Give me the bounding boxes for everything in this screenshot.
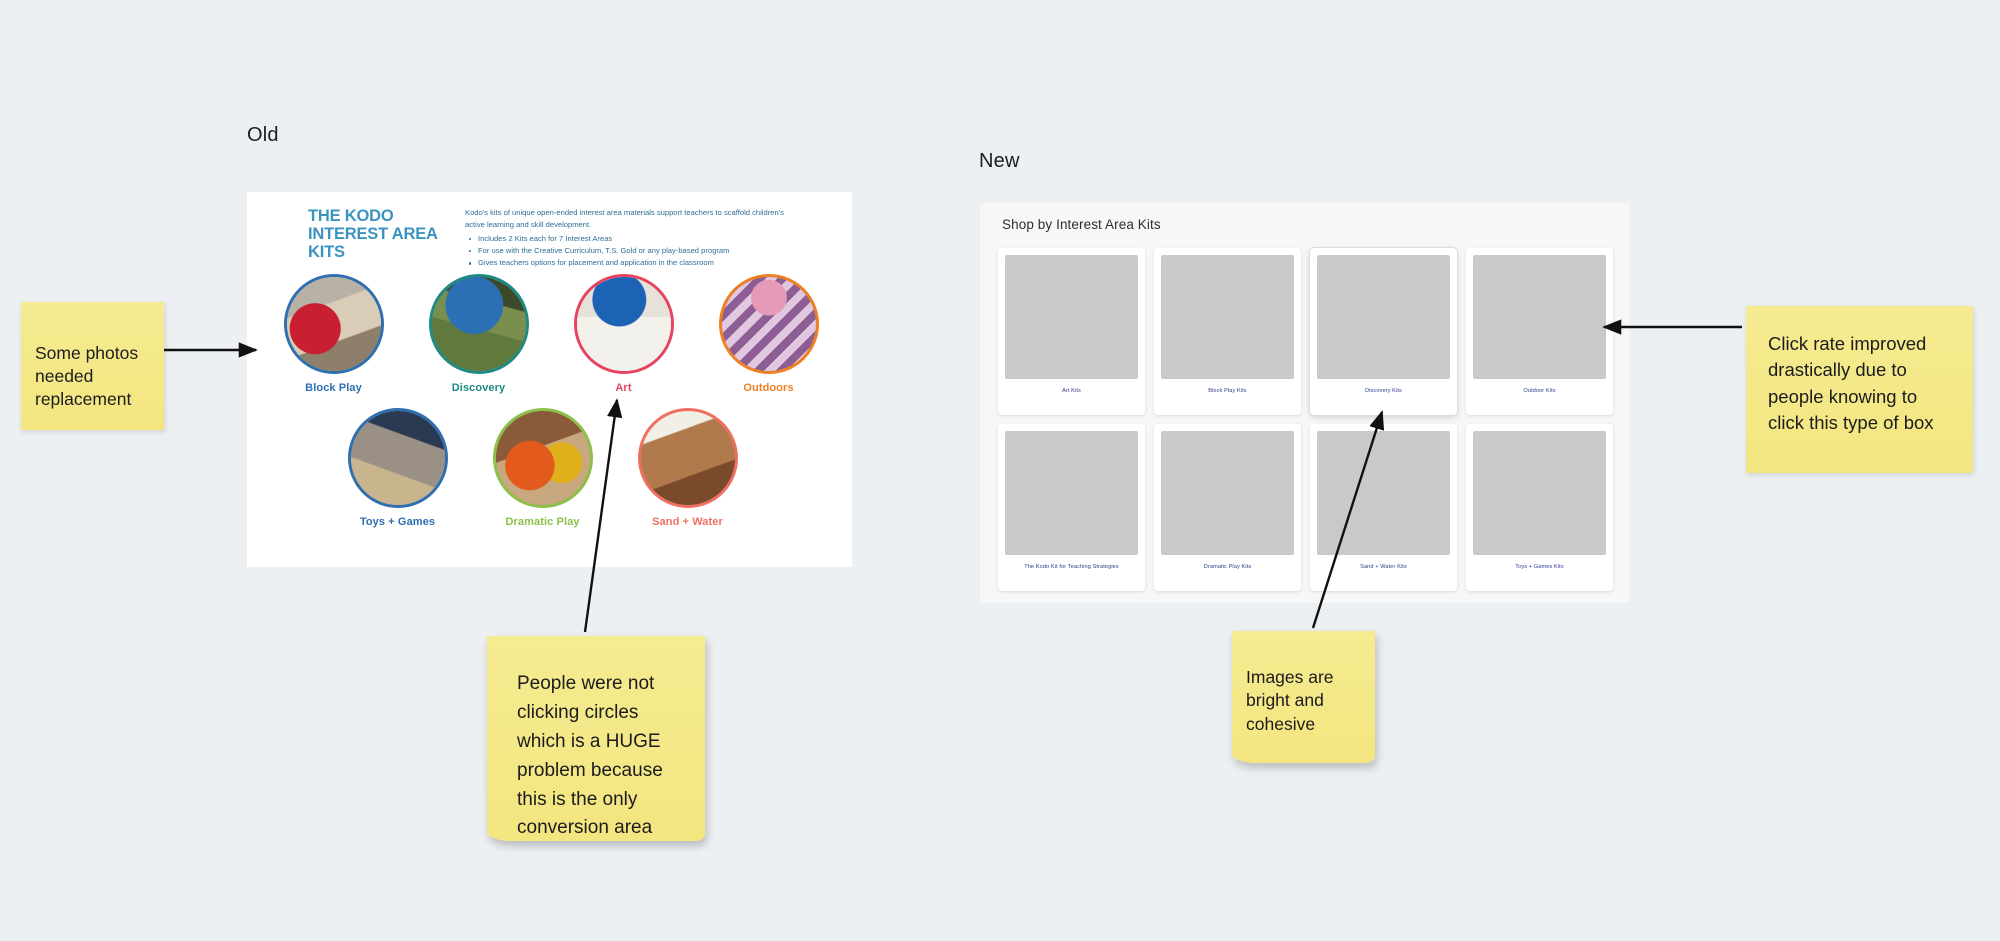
new-design-artboard[interactable]: Shop by Interest Area Kits Art Kits Bloc… bbox=[980, 203, 1630, 603]
photo-child-red-funnel-water-play bbox=[1473, 255, 1606, 379]
new-card-label: Discovery Kits bbox=[1365, 388, 1402, 395]
old-circle-image-art[interactable] bbox=[574, 274, 674, 374]
old-circle-discovery[interactable]: Discovery bbox=[406, 274, 551, 394]
new-card-label: Outdoor Kits bbox=[1523, 388, 1555, 395]
old-circle-label: Art bbox=[615, 382, 631, 394]
photo-girl-at-glowing-light-table bbox=[1317, 255, 1450, 379]
old-circle-sand-water[interactable]: Sand + Water bbox=[615, 408, 760, 528]
new-card-outdoor[interactable]: Outdoor Kits bbox=[1466, 248, 1613, 415]
old-circle-label: Block Play bbox=[305, 382, 362, 394]
new-card-kodo-teaching-strategies[interactable]: The Kodo Kit for Teaching Strategies bbox=[998, 424, 1145, 591]
section-label-old: Old bbox=[247, 124, 279, 147]
photo-child-drawing-on-light-table bbox=[577, 277, 671, 371]
photo-girl-yellow-sweater-art-table bbox=[1005, 255, 1138, 379]
new-design-card-grid: Art Kits Block Play Kits Discovery Kits … bbox=[998, 248, 1614, 591]
old-design-bullet: Includes 2 Kits each for 7 Interest Area… bbox=[474, 233, 805, 245]
old-circle-row-1: Block Play Discovery Art bbox=[247, 274, 852, 394]
photo-children-at-sand-and-water-table bbox=[641, 411, 735, 505]
old-circle-image-discovery[interactable] bbox=[429, 274, 529, 374]
old-circle-label: Outdoors bbox=[743, 382, 793, 394]
old-design-bullet: For use with the Creative Curriculum, T.… bbox=[474, 245, 805, 257]
old-circle-image-outdoors[interactable] bbox=[719, 274, 819, 374]
photo-children-with-dolls-dramatic-play bbox=[1161, 431, 1294, 555]
new-card-discovery[interactable]: Discovery Kits bbox=[1310, 248, 1457, 415]
old-design-header: THE KODO INTEREST AREA KITS Kodo's kits … bbox=[247, 192, 852, 274]
new-card-label: Sand + Water Kits bbox=[1360, 564, 1407, 571]
old-design-intro: Kodo's kits of unique open-ended interes… bbox=[465, 207, 805, 232]
photo-boy-at-window-toy-tray bbox=[1473, 431, 1606, 555]
sticky-note-photos-replacement[interactable]: Some photos needed replacement bbox=[21, 302, 164, 430]
photo-child-blue-coat-collecting-leaves bbox=[432, 277, 526, 371]
old-circle-image-sand-water[interactable] bbox=[638, 408, 738, 508]
new-card-toys-games[interactable]: Toys + Games Kits bbox=[1466, 424, 1613, 591]
old-design-bullet-list: Includes 2 Kits each for 7 Interest Area… bbox=[465, 233, 805, 270]
new-card-sand-water[interactable]: Sand + Water Kits bbox=[1310, 424, 1457, 591]
new-card-label: Dramatic Play Kits bbox=[1204, 564, 1252, 571]
old-design-copy: Kodo's kits of unique open-ended interes… bbox=[465, 207, 805, 269]
old-design-artboard[interactable]: THE KODO INTEREST AREA KITS Kodo's kits … bbox=[247, 192, 852, 567]
section-label-new: New bbox=[979, 150, 1020, 173]
old-circle-row-2: Toys + Games Dramatic Play Sand + Water bbox=[247, 394, 852, 528]
photo-child-purple-coat-carrying-buckets bbox=[722, 277, 816, 371]
old-circle-dramatic-play[interactable]: Dramatic Play bbox=[470, 408, 615, 528]
photo-child-red-shirt-wooden-blocks bbox=[287, 277, 381, 371]
old-design-circle-grid: Block Play Discovery Art bbox=[247, 274, 852, 528]
new-card-art[interactable]: Art Kits bbox=[998, 248, 1145, 415]
old-circle-toys-games[interactable]: Toys + Games bbox=[325, 408, 470, 528]
sticky-note-circles-not-clicked[interactable]: People were not clicking circles which i… bbox=[487, 636, 705, 841]
old-circle-block-play[interactable]: Block Play bbox=[261, 274, 406, 394]
old-circle-label: Sand + Water bbox=[652, 516, 723, 528]
new-design-heading: Shop by Interest Area Kits bbox=[1002, 217, 1161, 232]
photo-children-playing-with-wooden-toys bbox=[351, 411, 445, 505]
old-circle-image-toys-games[interactable] bbox=[348, 408, 448, 508]
new-card-dramatic-play[interactable]: Dramatic Play Kits bbox=[1154, 424, 1301, 591]
new-card-label: Block Play Kits bbox=[1208, 388, 1247, 395]
old-circle-outdoors[interactable]: Outdoors bbox=[696, 274, 841, 394]
photo-two-children-mud-sensory-table bbox=[1317, 431, 1450, 555]
new-card-label: The Kodo Kit for Teaching Strategies bbox=[1024, 564, 1119, 571]
sticky-note-click-rate-improved[interactable]: Click rate improved drastically due to p… bbox=[1746, 306, 1973, 473]
old-circle-label: Toys + Games bbox=[360, 516, 435, 528]
old-design-title: THE KODO INTEREST AREA KITS bbox=[308, 208, 458, 261]
new-card-label: Art Kits bbox=[1062, 388, 1081, 395]
old-circle-image-block-play[interactable] bbox=[284, 274, 384, 374]
new-card-label: Toys + Games Kits bbox=[1515, 564, 1563, 571]
new-card-block-play[interactable]: Block Play Kits bbox=[1154, 248, 1301, 415]
photo-two-children-dress-up-play bbox=[496, 411, 590, 505]
whiteboard-canvas: Old New THE KODO INTEREST AREA KITS Kodo… bbox=[0, 0, 2000, 941]
old-circle-label: Dramatic Play bbox=[505, 516, 579, 528]
photo-two-boys-building-ramp-blocks bbox=[1161, 255, 1294, 379]
old-circle-art[interactable]: Art bbox=[551, 274, 696, 394]
old-circle-label: Discovery bbox=[452, 382, 506, 394]
photo-girl-with-nature-specimen-jars bbox=[1005, 431, 1138, 555]
old-design-bullet: Gives teachers options for placement and… bbox=[474, 257, 805, 269]
old-circle-image-dramatic-play[interactable] bbox=[493, 408, 593, 508]
sticky-note-images-bright[interactable]: Images are bright and cohesive bbox=[1232, 631, 1375, 763]
